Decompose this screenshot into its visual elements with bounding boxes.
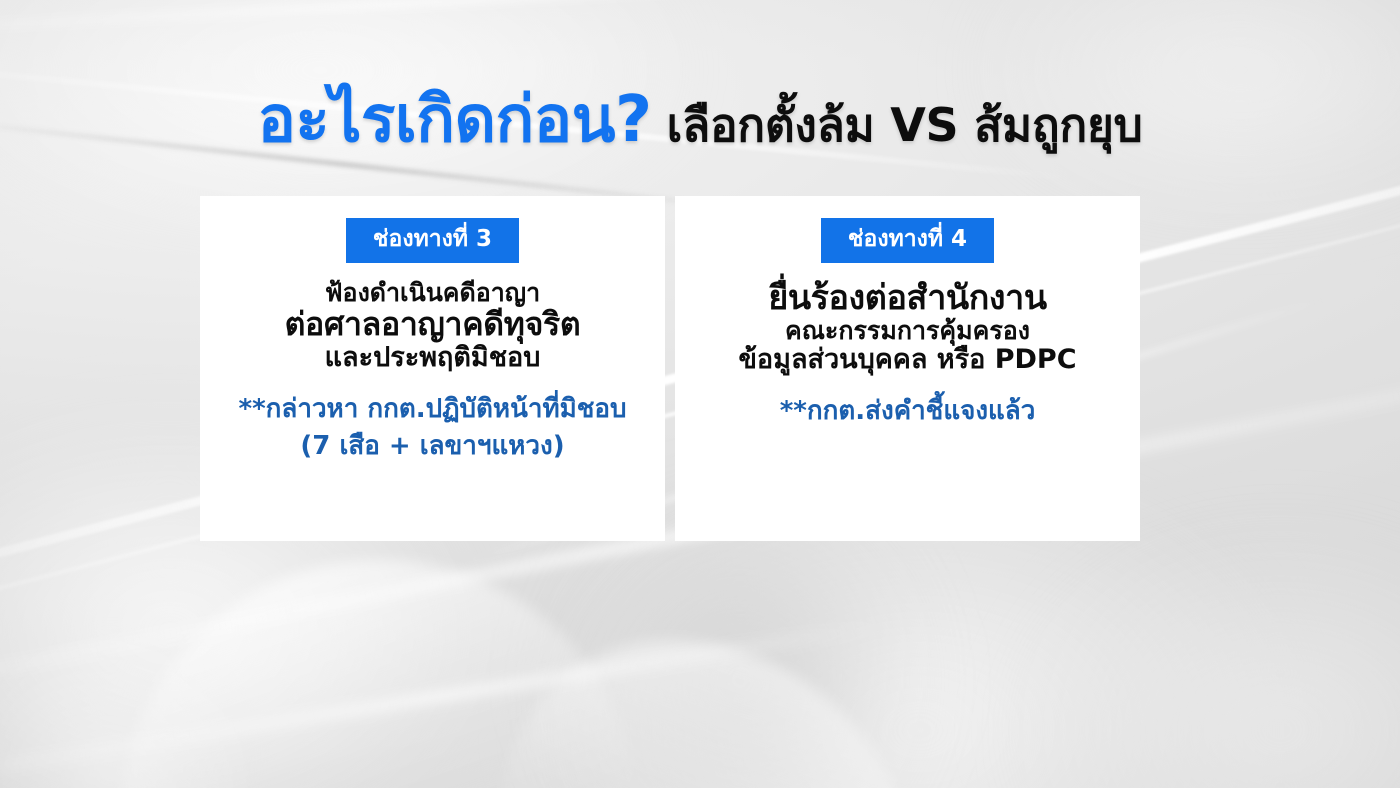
card-line: ฟ้องดำเนินคดีอาญา xyxy=(214,279,651,307)
status-badge: ช่องทางที่ 4 xyxy=(821,218,994,263)
card-body: ฟ้องดำเนินคดีอาญา ต่อศาลอาญาคดีทุจริต แล… xyxy=(214,279,651,373)
card-notes: **กกต.ส่งคำชี้แจงแล้ว xyxy=(689,393,1126,430)
card-note: (7 เสือ + เลขาฯแหวง) xyxy=(214,428,651,465)
page-title-rest: เลือกตั้งล้ม VS ส้มถูกยุบ xyxy=(667,98,1143,152)
card-row: ช่องทางที่ 3 ฟ้องดำเนินคดีอาญา ต่อศาลอาญ… xyxy=(200,196,1140,541)
card-line: คณะกรรมการคุ้มครอง xyxy=(689,317,1126,345)
card-line: ยื่นร้องต่อสำนักงาน xyxy=(689,279,1126,317)
card-line: ต่อศาลอาญาคดีทุจริต xyxy=(214,307,651,343)
page-title-highlight: อะไรเกิดก่อน? xyxy=(257,83,651,157)
card-note: **กล่าวหา กกต.ปฏิบัติหน้าที่มิชอบ xyxy=(214,391,651,428)
card-line: และประพฤติมิชอบ xyxy=(214,343,651,373)
page-title: อะไรเกิดก่อน? เลือกตั้งล้ม VS ส้มถูกยุบ xyxy=(0,88,1400,152)
card-body: ยื่นร้องต่อสำนักงาน คณะกรรมการคุ้มครอง ข… xyxy=(689,279,1126,375)
card-notes: **กล่าวหา กกต.ปฏิบัติหน้าที่มิชอบ (7 เสื… xyxy=(214,391,651,465)
status-badge: ช่องทางที่ 3 xyxy=(346,218,519,263)
channel-card[interactable]: ช่องทางที่ 3 ฟ้องดำเนินคดีอาญา ต่อศาลอาญ… xyxy=(200,196,665,541)
channel-card[interactable]: ช่องทางที่ 4 ยื่นร้องต่อสำนักงาน คณะกรรม… xyxy=(675,196,1140,541)
card-note: **กกต.ส่งคำชี้แจงแล้ว xyxy=(689,393,1126,430)
card-line: ข้อมูลส่วนบุคคล หรือ PDPC xyxy=(689,345,1126,375)
slide-canvas: อะไรเกิดก่อน? เลือกตั้งล้ม VS ส้มถูกยุบ … xyxy=(0,0,1400,788)
